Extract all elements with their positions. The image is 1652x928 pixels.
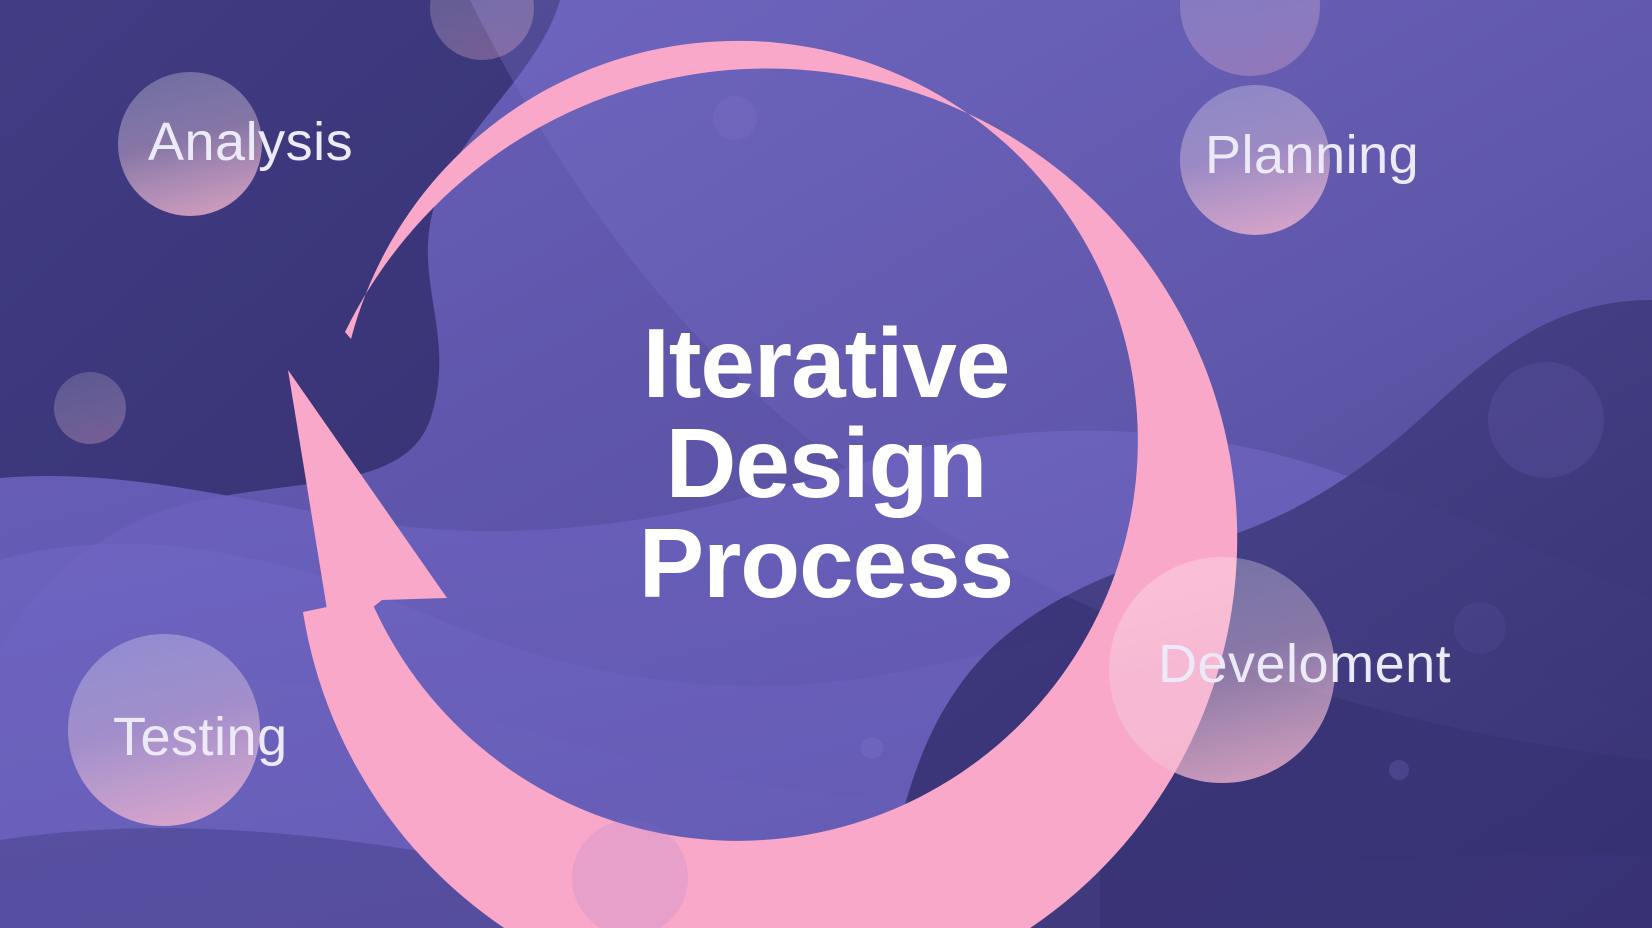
stage-label-planning: Planning <box>1205 128 1419 182</box>
decor-bubble <box>1180 0 1320 76</box>
decor-bubble <box>1389 760 1409 780</box>
decor-bubble <box>1488 362 1604 478</box>
stage-label-develoment: Develoment <box>1158 637 1451 691</box>
decor-bubble <box>861 737 883 759</box>
stage-label-testing: Testing <box>113 710 288 764</box>
decor-bubble <box>430 0 534 60</box>
decor-bubble <box>572 820 688 928</box>
iterative-design-process-graphic: Analysis Planning Develoment Testing Ite… <box>0 0 1652 928</box>
decor-bubble <box>713 96 757 140</box>
decor-bubble <box>1454 602 1506 654</box>
decor-bubble <box>54 372 126 444</box>
stage-label-analysis: Analysis <box>148 115 353 169</box>
